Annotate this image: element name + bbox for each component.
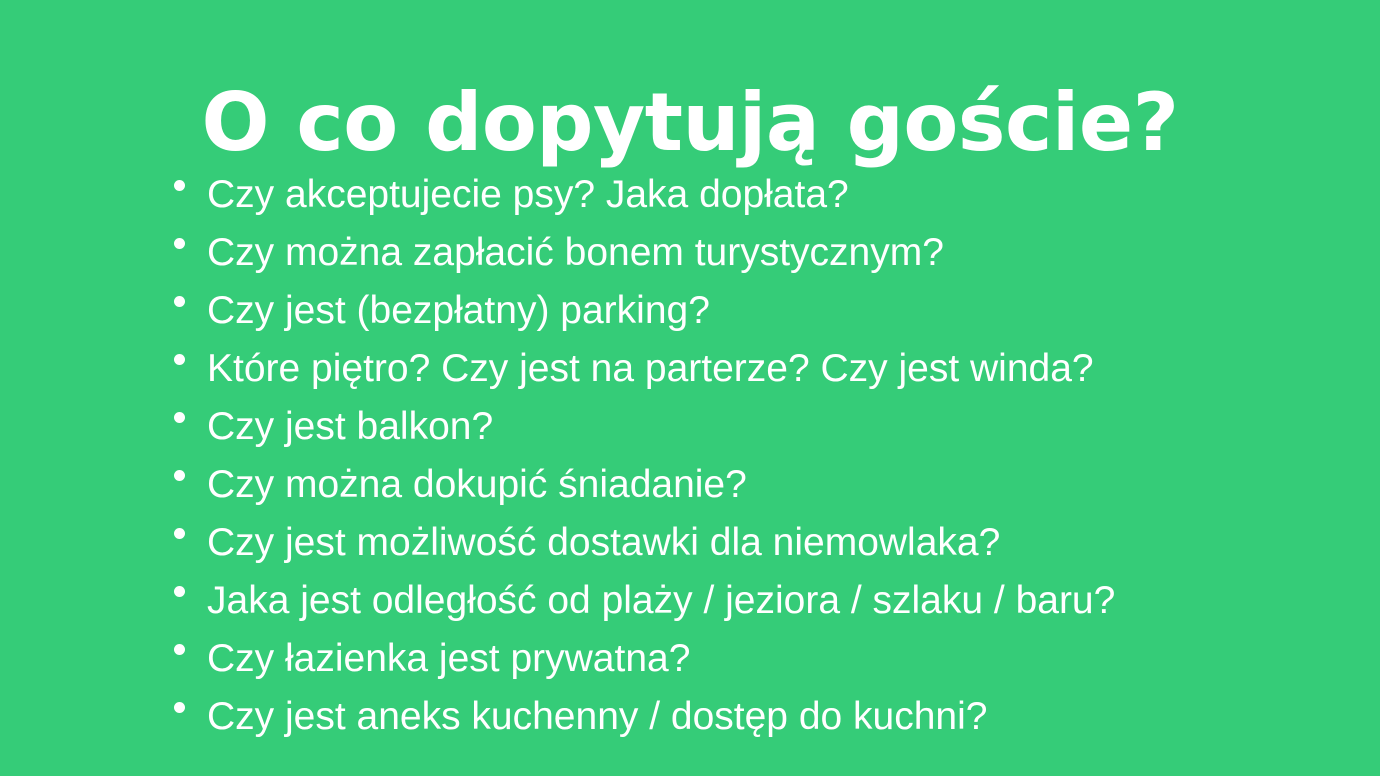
list-item: Czy jest aneks kuchenny / dostęp do kuch…	[168, 688, 1340, 746]
list-item-label: Czy jest balkon?	[207, 398, 1340, 456]
list-item-label: Czy jest możliwość dostawki dla niemowla…	[207, 514, 1340, 572]
list-item: Czy można zapłacić bonem turystycznym?	[168, 224, 1340, 282]
list-item-label: Czy można zapłacić bonem turystycznym?	[207, 224, 1340, 282]
slide-title: O co dopytują goście?	[0, 78, 1380, 168]
list-item-label: Czy akceptujecie psy? Jaka dopłata?	[207, 166, 1340, 224]
list-item-label: Jaka jest odległość od plaży / jeziora /…	[207, 572, 1340, 630]
list-item: Jaka jest odległość od plaży / jeziora /…	[168, 572, 1340, 630]
list-item-label: Które piętro? Czy jest na parterze? Czy …	[207, 340, 1340, 398]
list-item: Czy łazienka jest prywatna?	[168, 630, 1340, 688]
list-item: Czy jest (bezpłatny) parking?	[168, 282, 1340, 340]
list-item: Czy jest możliwość dostawki dla niemowla…	[168, 514, 1340, 572]
list-item: Czy akceptujecie psy? Jaka dopłata?	[168, 166, 1340, 224]
list-item-label: Czy łazienka jest prywatna?	[207, 630, 1340, 688]
presentation-slide: O co dopytują goście? Czy akceptujecie p…	[0, 0, 1380, 776]
question-bullet-list: Czy akceptujecie psy? Jaka dopłata? Czy …	[168, 166, 1340, 746]
list-item: Czy można dokupić śniadanie?	[168, 456, 1340, 514]
list-item-label: Czy można dokupić śniadanie?	[207, 456, 1340, 514]
list-item-label: Czy jest (bezpłatny) parking?	[207, 282, 1340, 340]
list-item: Które piętro? Czy jest na parterze? Czy …	[168, 340, 1340, 398]
list-item: Czy jest balkon?	[168, 398, 1340, 456]
list-item-label: Czy jest aneks kuchenny / dostęp do kuch…	[207, 688, 1340, 746]
